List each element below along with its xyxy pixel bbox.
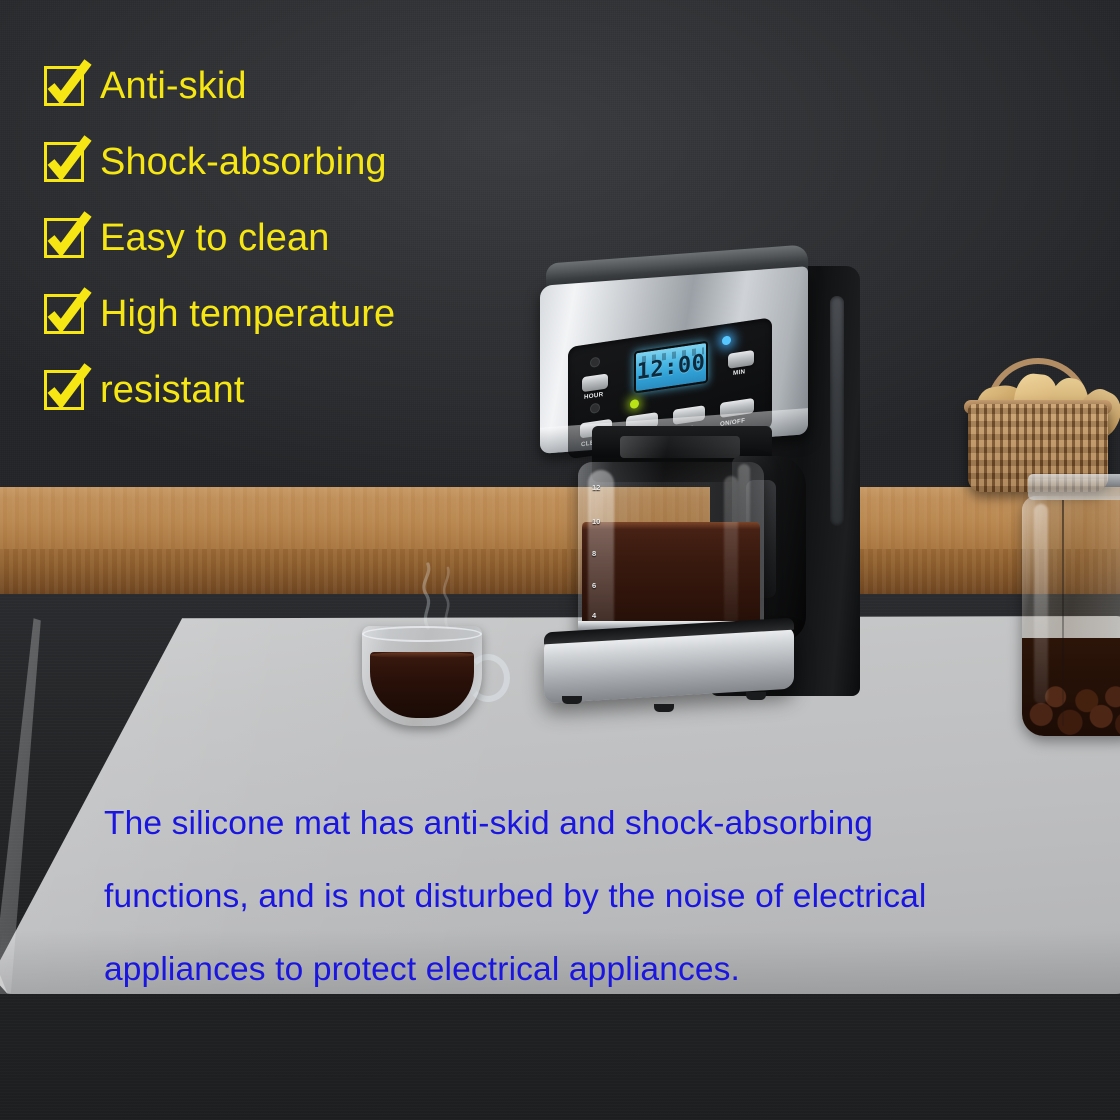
jar-lid (1028, 474, 1120, 500)
feature-item: resistant (44, 352, 524, 428)
description-line: appliances to protect electrical applian… (104, 933, 1104, 1006)
carafe-highlight-secondary (724, 476, 738, 626)
feature-item: Easy to clean (44, 200, 524, 276)
on-off-button[interactable] (720, 398, 754, 418)
clock-time: 12:00 (637, 350, 706, 385)
feature-checklist: Anti-skid Shock-absorbing Easy to clean … (44, 48, 524, 428)
feature-item: Anti-skid (44, 48, 524, 124)
jar-highlight (1034, 504, 1048, 704)
feature-label: resistant (100, 370, 245, 410)
coffee-maker: 12:00 HOUR MIN CLEAN STRONG PROG (534, 248, 882, 748)
product-description: The silicone mat has anti-skid and shock… (104, 787, 1104, 1006)
jar-seam (1062, 500, 1064, 726)
feature-label: Anti-skid (100, 66, 247, 106)
checkbox-checked-icon (44, 142, 84, 182)
indicator-dot-clean (590, 403, 600, 414)
cup-coffee-liquid (370, 652, 474, 718)
steam-icon (398, 562, 478, 630)
min-button-label: MIN (733, 368, 745, 377)
feature-label: Easy to clean (100, 218, 329, 258)
cup-rim (362, 626, 482, 642)
carafe-measurement-marks: 12 10 8 6 4 (592, 484, 614, 630)
checkbox-checked-icon (44, 370, 84, 410)
base-foot (562, 696, 582, 704)
hour-button[interactable] (582, 373, 608, 392)
feature-item: Shock-absorbing (44, 124, 524, 200)
green-led-indicator (630, 399, 639, 409)
carafe-mark: 6 (592, 582, 596, 590)
base-foot (654, 704, 674, 712)
product-feature-image: 12:00 HOUR MIN CLEAN STRONG PROG (0, 0, 1120, 1120)
carafe-mark: 4 (592, 612, 596, 620)
checkbox-checked-icon (44, 294, 84, 334)
prog-button[interactable] (673, 405, 705, 425)
feature-item: High temperature (44, 276, 524, 352)
indicator-dot-timer (590, 357, 600, 368)
feature-label: Shock-absorbing (100, 142, 387, 182)
carafe-mark: 10 (592, 518, 600, 526)
coffee-bean-jar (1022, 474, 1120, 738)
checkbox-checked-icon (44, 218, 84, 258)
lcd-display: 12:00 (634, 341, 708, 394)
min-button[interactable] (728, 350, 754, 369)
description-line: functions, and is not disturbed by the n… (104, 860, 1104, 933)
checkbox-checked-icon (44, 66, 84, 106)
hour-button-label: HOUR (584, 391, 603, 401)
base-foot (746, 692, 766, 700)
carafe-mark: 8 (592, 550, 596, 558)
feature-label: High temperature (100, 294, 395, 334)
blue-led-indicator (722, 335, 731, 345)
coffee-cup (362, 618, 514, 730)
bread-basket (960, 352, 1120, 494)
description-line: The silicone mat has anti-skid and shock… (104, 787, 1104, 860)
carafe-mark: 12 (592, 484, 600, 492)
water-level-gauge (832, 308, 842, 514)
